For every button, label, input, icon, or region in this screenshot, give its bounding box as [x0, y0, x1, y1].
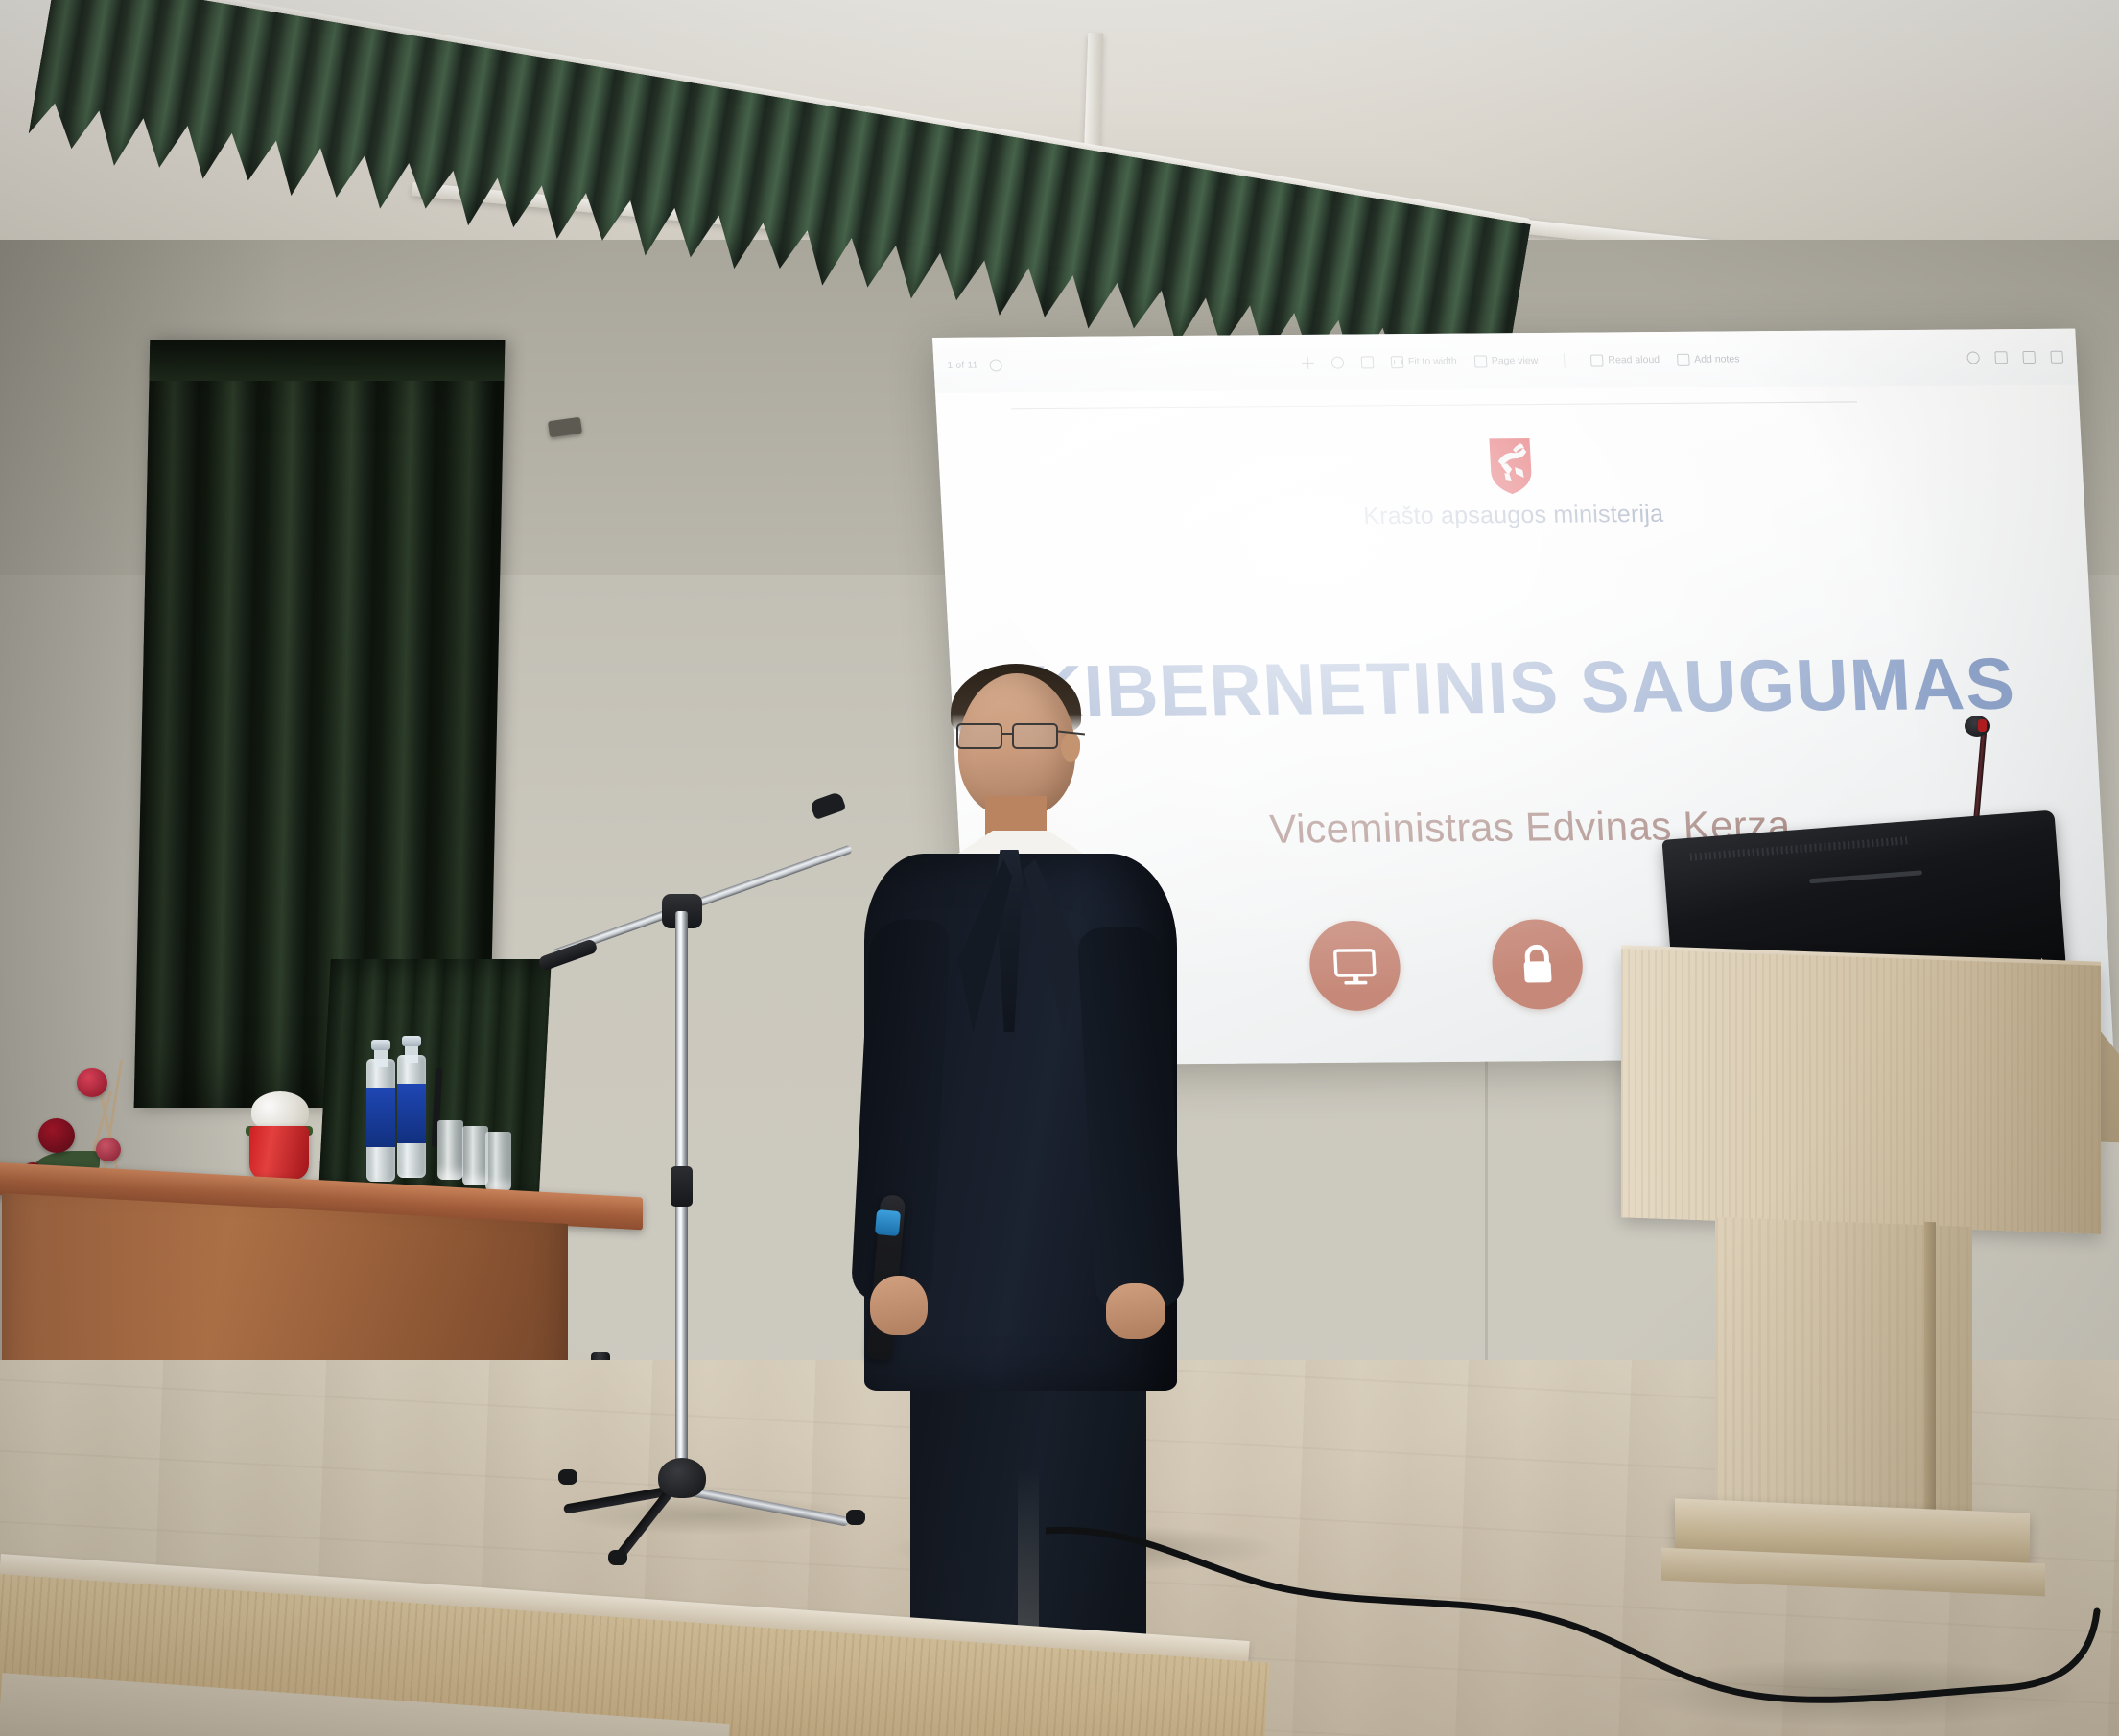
- highlight-button[interactable]: [1361, 356, 1375, 368]
- fit-width-icon: [1391, 356, 1404, 368]
- microphone-indicator-ring: [1978, 719, 1987, 732]
- lectern-column-edge: [1924, 1222, 1936, 1529]
- search-icon[interactable]: [989, 359, 1002, 371]
- lens-left: [956, 723, 1002, 749]
- monitor-slot: [1809, 870, 1922, 883]
- tripod-hub: [658, 1458, 706, 1498]
- more-options-icon[interactable]: [2050, 350, 2063, 363]
- bottle-cap: [371, 1040, 390, 1050]
- tripod-foot: [558, 1469, 577, 1485]
- toolbar-left-group: 1 of 11: [947, 358, 1074, 371]
- page-view-icon: [1473, 355, 1487, 367]
- rose: [38, 1118, 75, 1153]
- bottle-label: [366, 1088, 395, 1147]
- draw-icon: [1330, 356, 1344, 368]
- rose: [96, 1138, 121, 1161]
- padlock-icon: [1490, 919, 1585, 1010]
- page-view-button[interactable]: Page view: [1473, 355, 1538, 368]
- page-view-label: Page view: [1491, 355, 1538, 366]
- fit-to-width-button[interactable]: Fit to width: [1391, 355, 1458, 368]
- lectern-body: [1621, 949, 2101, 1233]
- bottle-cap: [402, 1036, 421, 1046]
- eyeglasses-icon: [954, 723, 1070, 750]
- presentation-scene: 1 of 11 Fit to width: [0, 0, 2119, 1736]
- lens-right: [1012, 723, 1058, 749]
- draw-button[interactable]: [1330, 356, 1344, 368]
- drinking-glass: [437, 1120, 463, 1180]
- slide-divider-top: [1082, 551, 1949, 557]
- print-icon[interactable]: [1966, 351, 1980, 364]
- toolbar-right-group: [1966, 350, 2063, 364]
- floor-cable: [1046, 1496, 2119, 1736]
- hand-left: [870, 1276, 928, 1335]
- add-text-button[interactable]: [1301, 356, 1314, 368]
- drinking-glass: [462, 1126, 488, 1185]
- toolbar-divider: [1564, 353, 1566, 368]
- highlight-icon: [1361, 356, 1375, 368]
- speaker-person: [859, 662, 1261, 1563]
- page-indicator: 1 of 11: [947, 360, 978, 370]
- read-aloud-label: Read aloud: [1608, 354, 1660, 365]
- organization-name: Krašto apsaugos ministerija: [1363, 501, 1664, 530]
- water-bottle: [397, 1036, 426, 1178]
- water-bottle: [366, 1040, 395, 1182]
- settings-icon[interactable]: [2022, 350, 2036, 363]
- add-notes-button[interactable]: Add notes: [1677, 353, 1740, 365]
- hand-right: [1106, 1283, 1165, 1339]
- glasses-bridge: [1002, 733, 1012, 735]
- height-clutch[interactable]: [671, 1166, 693, 1207]
- read-aloud-icon: [1590, 354, 1604, 366]
- red-flower-pot: [249, 1126, 309, 1180]
- microphone-clip-icon: [810, 791, 847, 820]
- bottle-label: [397, 1084, 426, 1143]
- add-notes-icon: [1677, 353, 1690, 365]
- drape-header: [149, 340, 505, 381]
- plus-icon: [1301, 356, 1314, 368]
- toolbar-center-group: Fit to width Page view Read aloud Add no…: [1073, 350, 1967, 372]
- tripod-leg: [680, 1485, 850, 1527]
- boom-microphone-stand: [537, 786, 863, 1554]
- vytis-coat-of-arms-icon: [1483, 433, 1539, 496]
- save-icon[interactable]: [1994, 351, 2008, 364]
- read-aloud-button[interactable]: Read aloud: [1590, 354, 1660, 367]
- monitor-icon: [1307, 921, 1402, 1012]
- fit-to-width-label: Fit to width: [1408, 356, 1457, 367]
- drinking-glass: [485, 1132, 511, 1191]
- pdf-viewer-toolbar[interactable]: 1 of 11 Fit to width: [932, 329, 2078, 393]
- monitor-vent: [1690, 836, 1911, 861]
- tripod-foot: [608, 1550, 627, 1565]
- rose: [77, 1068, 107, 1097]
- add-notes-label: Add notes: [1694, 353, 1740, 364]
- microphone-blue-band: [875, 1209, 901, 1236]
